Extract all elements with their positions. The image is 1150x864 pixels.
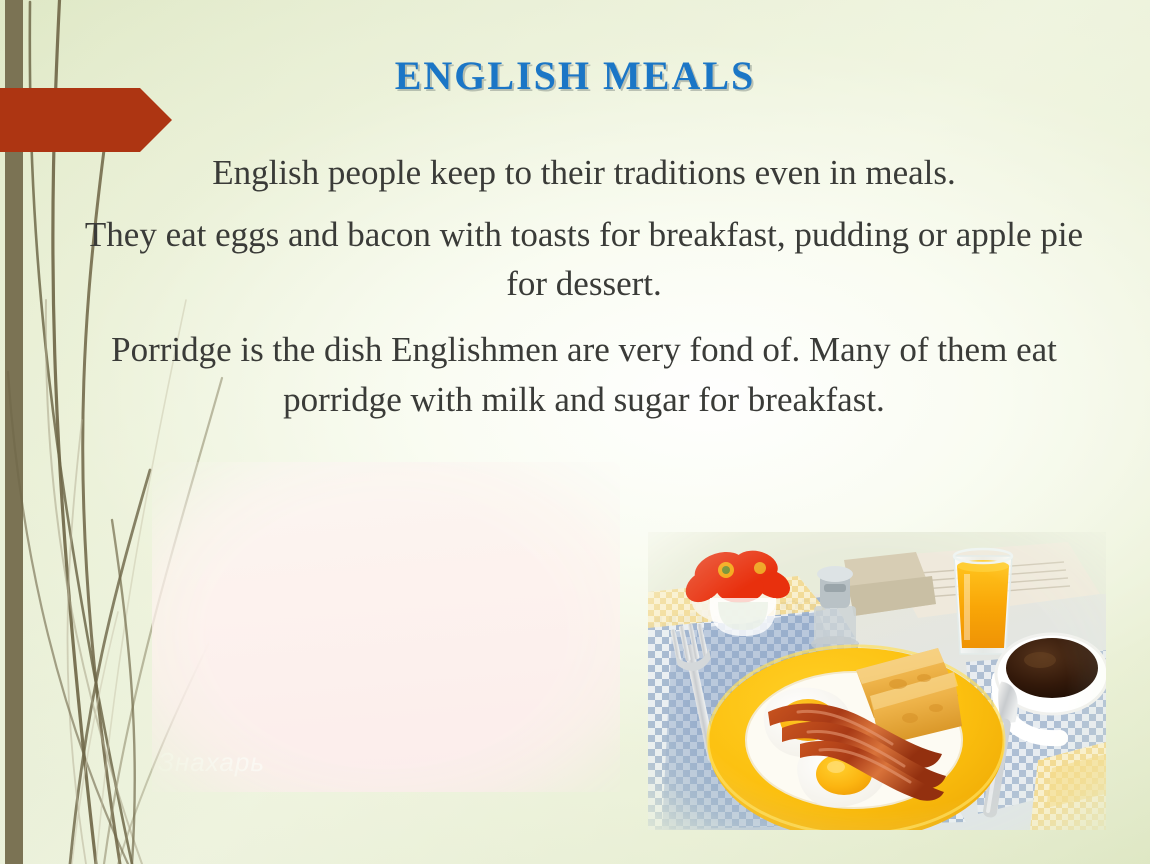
porridge-photo-canvas [152,462,620,792]
body-text-block: English people keep to their traditions … [78,148,1090,434]
page-title: ENGLISH MEALS [0,52,1150,99]
breakfast-illustration-icon [648,532,1106,830]
breakfast-photo [648,532,1106,830]
slide: ENGLISH MEALS English people keep to the… [0,0,1150,864]
porridge-watermark: Знахарь [158,747,265,778]
orange-juice-glass [954,549,1012,654]
paragraph-1: English people keep to their traditions … [78,148,1090,198]
paragraph-2: They eat eggs and bacon with toasts for … [78,210,1090,309]
paragraph-3: Porridge is the dish Englishmen are very… [78,325,1090,424]
porridge-photo: Знахарь [152,462,620,792]
